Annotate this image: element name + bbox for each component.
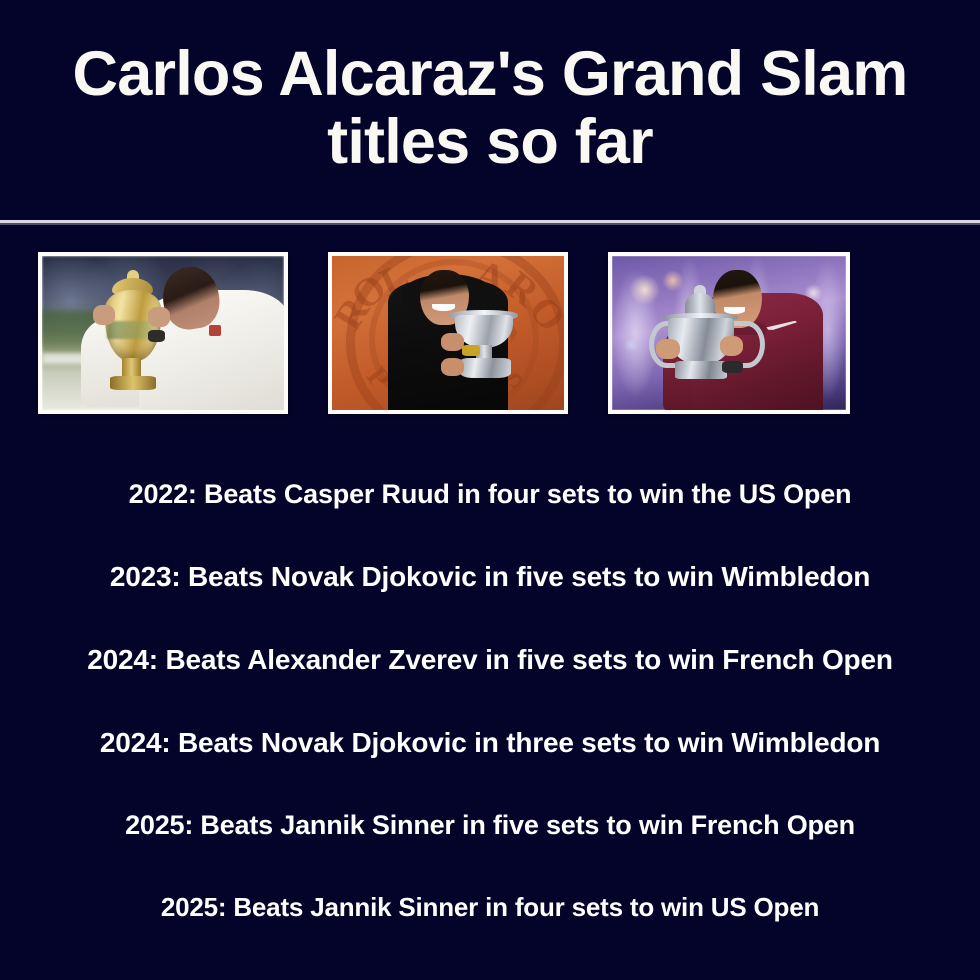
list-item: 2025: Beats Jannik Sinner in five sets t… — [0, 811, 980, 841]
us-open-photo-canvas — [612, 256, 846, 410]
trophy-photo-row: R O L A R O P S — [38, 252, 850, 414]
list-item: 2024: Beats Novak Djokovic in three sets… — [0, 728, 980, 759]
us-open-player-watch — [722, 361, 743, 373]
roland-garros-player-hand-lower — [441, 358, 464, 376]
us-open-2022-trophy-photo — [608, 252, 850, 414]
header-divider-shadow — [0, 223, 980, 225]
list-item: 2025: Beats Jannik Sinner in four sets t… — [0, 893, 980, 922]
roland-garros-player-watch — [462, 345, 481, 356]
grand-slam-titles-list: 2022: Beats Casper Ruud in four sets to … — [0, 424, 980, 980]
us-open-player-hand-right — [720, 336, 743, 356]
roland-garros-photo-canvas: R O L A R O P S — [332, 256, 564, 410]
us-open-player-hand-left — [656, 339, 679, 359]
page-title: Carlos Alcaraz's Grand Slam titles so fa… — [0, 0, 980, 214]
roland-garros-trophy-photo: R O L A R O P S — [328, 252, 568, 414]
roland-garros-player-hand-upper — [441, 333, 464, 351]
list-item: 2023: Beats Novak Djokovic in five sets … — [0, 562, 980, 593]
grand-slam-titles-infographic: Carlos Alcaraz's Grand Slam titles so fa… — [0, 0, 980, 980]
us-open-player-smile — [724, 307, 745, 314]
list-item: 2024: Beats Alexander Zverev in five set… — [0, 645, 980, 676]
wimbledon-trophy-stem — [122, 358, 141, 378]
wimbledon-kit-logo — [209, 325, 221, 336]
page-title-line-2: titles so far — [327, 108, 653, 176]
wimbledon-2023-trophy-photo — [38, 252, 288, 414]
page-title-line-1: Carlos Alcaraz's Grand Slam — [73, 40, 908, 108]
roland-garros-trophy-base — [460, 358, 511, 378]
list-item: 2022: Beats Casper Ruud in four sets to … — [0, 480, 980, 510]
wimbledon-player-watch — [148, 330, 165, 342]
wimbledon-player-hand-right — [148, 307, 170, 327]
wimbledon-photo-canvas — [42, 256, 284, 410]
wimbledon-player-hand-left — [93, 305, 115, 325]
us-open-trophy-base — [675, 361, 726, 379]
wimbledon-trophy-base — [110, 376, 156, 390]
